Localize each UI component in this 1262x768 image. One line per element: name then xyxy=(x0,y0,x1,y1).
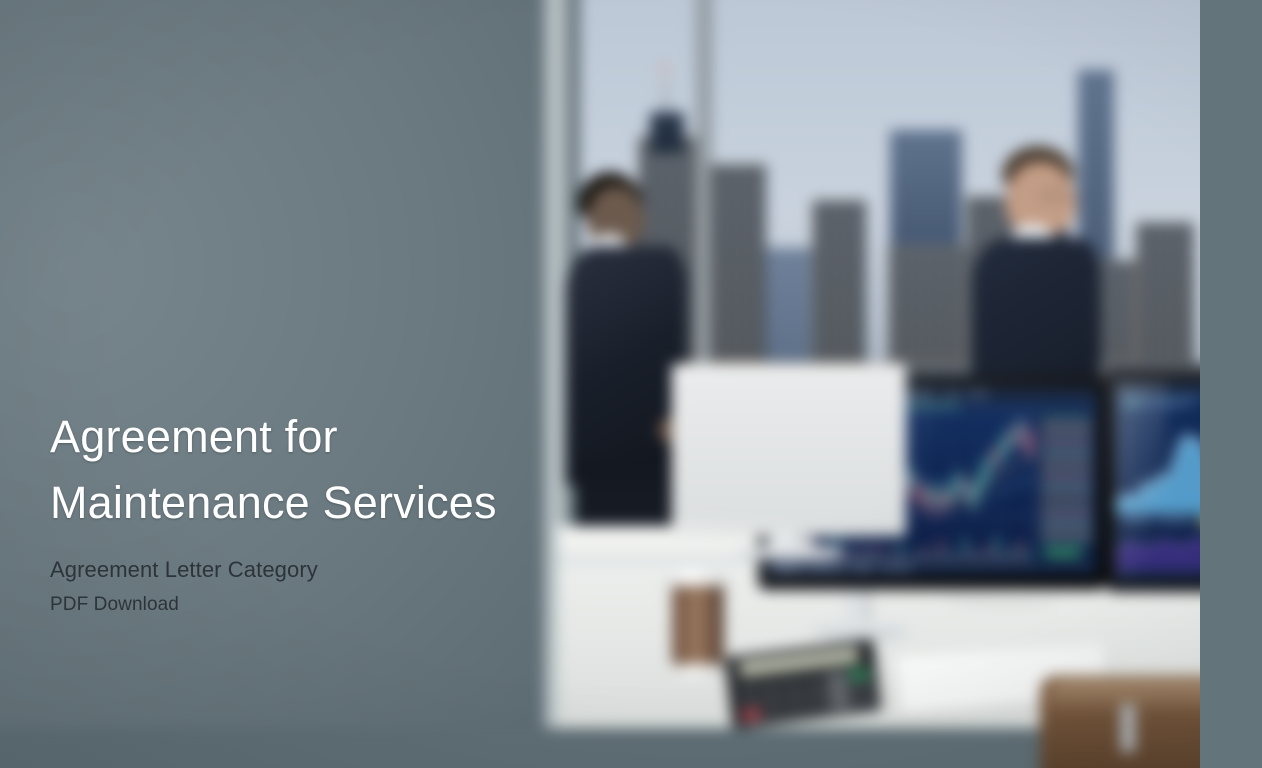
cover-text-block: Agreement for Maintenance Services Agree… xyxy=(0,0,600,768)
page-title: Agreement for Maintenance Services xyxy=(50,404,570,536)
right-color-band xyxy=(1200,0,1262,768)
monitor-secondary-screen xyxy=(1116,382,1200,580)
pdf-download-label[interactable]: PDF Download xyxy=(50,594,179,616)
category-label: Agreement Letter Category xyxy=(50,557,318,583)
document-cover: Agreement for Maintenance Services Agree… xyxy=(0,0,1262,768)
